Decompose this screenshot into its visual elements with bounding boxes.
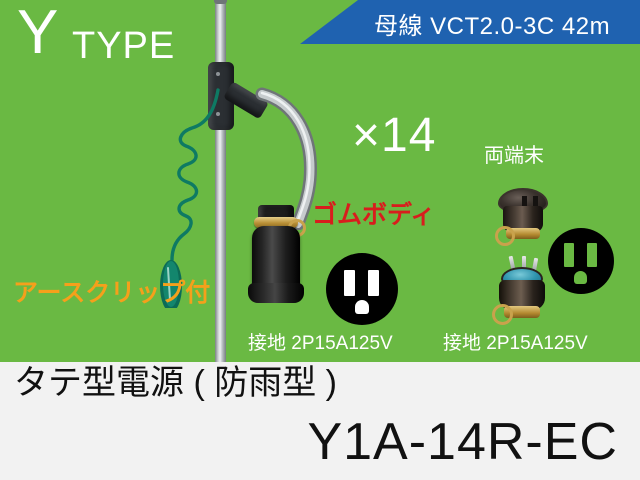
outlet-slot-left [344,270,355,296]
green-photo-panel: Y TYPE 母線 VCT2.0-3C 42m [0,0,640,362]
outlet-2p-ground-icon [326,253,398,325]
outlet-slot-right [587,243,597,267]
model-number: Y1A-14R-EC [307,416,618,468]
product-name: タテ型電源 ( 防雨型 ) [14,366,337,400]
cable-spec-banner-text: 母線 VCT2.0-3C 42m [374,6,610,41]
product-catalog-image: Y TYPE 母線 VCT2.0-3C 42m [0,0,640,480]
callout-rubber-body: ゴムボディ [312,203,435,228]
plug-hook-ring [492,304,513,325]
logo-word-type: TYPE [72,27,175,65]
outlet-ground-hole [355,300,369,314]
quantity-label: ×14 [352,112,436,160]
outlet-2p-ground-icon [548,228,614,294]
pole-top-cap [214,0,227,4]
logo-letter-y: Y [17,2,58,64]
outlet-slot-left [564,243,574,267]
rubber-body-connector [248,205,304,310]
waterproof-plug-photo [490,256,556,328]
callout-earth-clip: アースクリップ付 [13,281,210,306]
outlet-ground-hole [574,271,587,284]
cable-spec-banner: 母線 VCT2.0-3C 42m [300,0,640,44]
outlet-slot-right [368,270,379,296]
spec-label-right: 接地 2P15A125V [443,334,588,353]
waterproof-socket-photo [492,188,554,250]
connector-skirt [248,283,304,303]
caption-area: タテ型電源 ( 防雨型 ) Y1A-14R-EC [0,362,640,480]
socket-hook-ring [495,226,515,246]
spec-label-left: 接地 2P15A125V [248,334,393,353]
label-both-ends: 両端末 [484,146,544,166]
